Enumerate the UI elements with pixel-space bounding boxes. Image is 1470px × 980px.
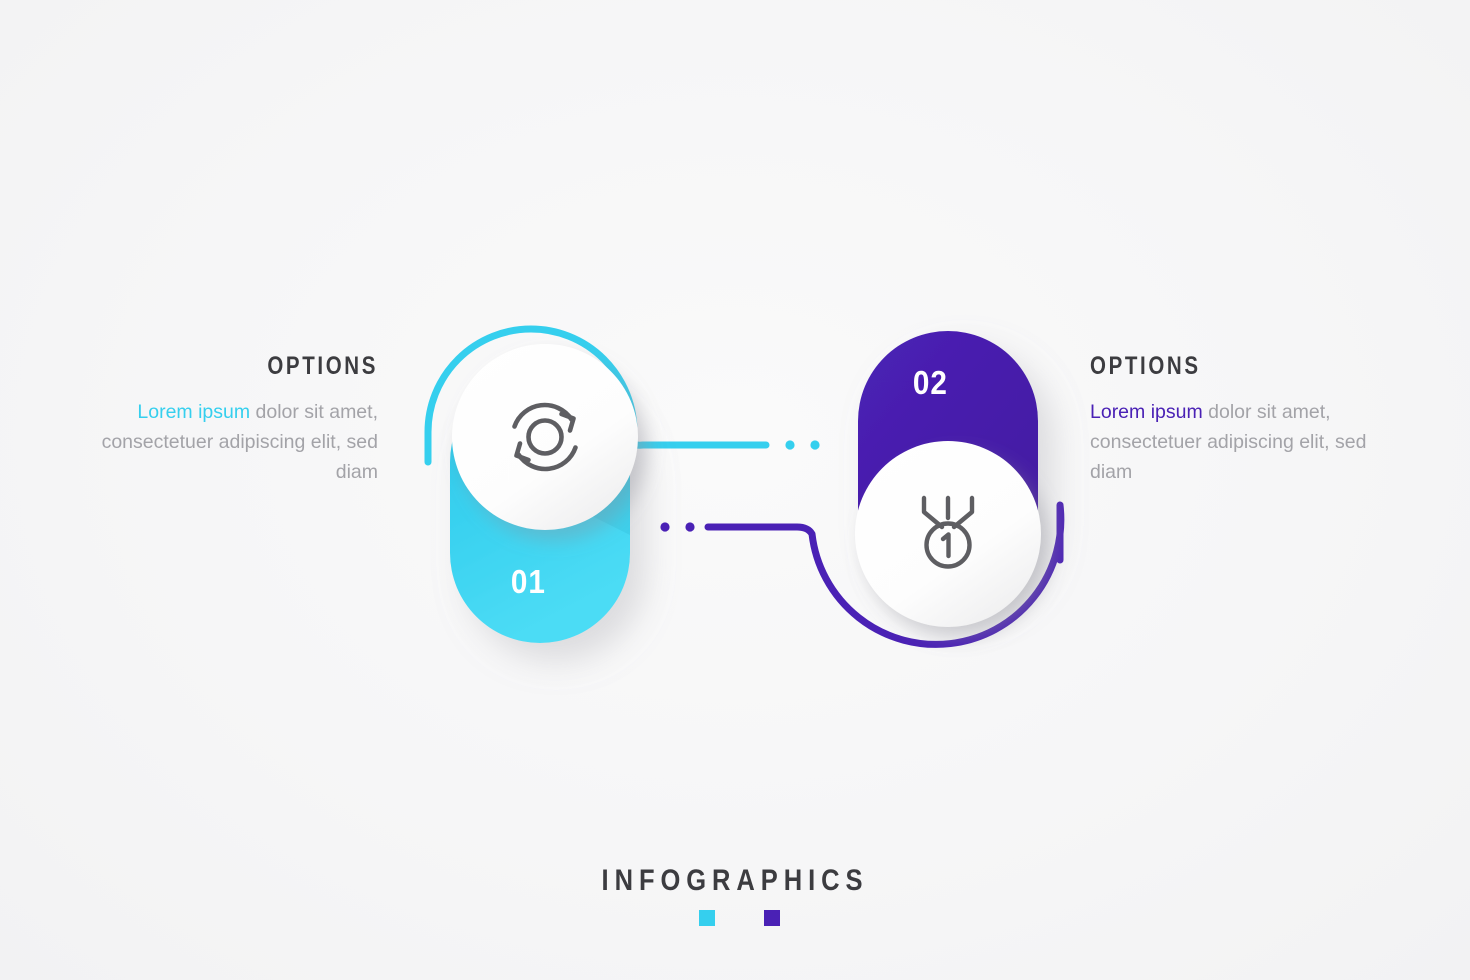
step-01-text-block: OPTIONS Lorem ipsum dolor sit amet, cons… [78,352,378,487]
connector-dot-bottom-1 [660,522,669,531]
footer-swatches [0,910,1470,926]
connector-dot-top-2 [810,440,819,449]
footer-swatch-purple [764,910,780,926]
step-01-body-accent: Lorem ipsum [137,401,250,423]
footer: INFOGRAPHICS [0,864,1470,926]
step-02-number: 02 [913,364,948,402]
infographic-canvas: 01 02 OPTIONS Lorem ipsum dolor sit amet… [0,0,1470,980]
connector-dot-top-1 [785,440,794,449]
step-01-disc[interactable] [452,344,638,530]
step-02-body: Lorem ipsum dolor sit amet, consectetuer… [1090,397,1390,487]
step-01-body: Lorem ipsum dolor sit amet, consectetuer… [78,397,378,487]
step-02-heading: OPTIONS [1090,352,1336,381]
step-02-group[interactable] [660,331,1060,644]
step-01-heading: OPTIONS [132,352,378,381]
step-02-text-block: OPTIONS Lorem ipsum dolor sit amet, cons… [1090,352,1390,487]
footer-title: INFOGRAPHICS [602,864,869,898]
footer-swatch-cyan [699,910,715,926]
step-01-number: 01 [511,563,546,601]
step-02-body-accent: Lorem ipsum [1090,401,1203,423]
step-01-group[interactable] [428,329,820,643]
connector-dot-bottom-2 [685,522,694,531]
infographic-artwork [0,0,1470,980]
